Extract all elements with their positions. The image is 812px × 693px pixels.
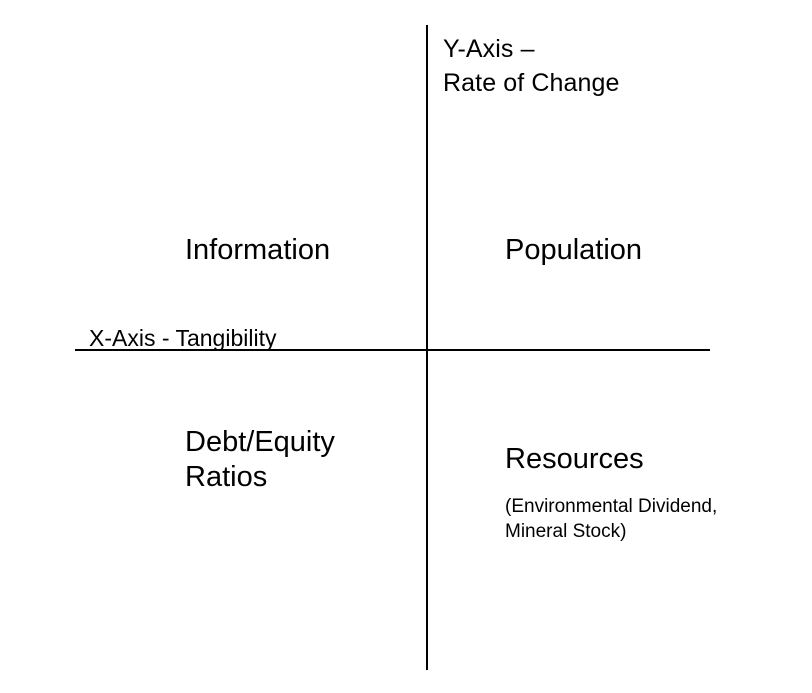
quadrant-label-top-left: Information	[185, 232, 330, 268]
y-axis-line	[426, 25, 428, 670]
y-axis-label: Y-Axis – Rate of Change	[443, 32, 620, 100]
quadrant-label-bottom-left: Debt/Equity Ratios	[185, 425, 335, 495]
quadrant-label-bottom-right-sublabel: (Environmental Dividend, Mineral Stock)	[505, 494, 717, 544]
quadrant-diagram-canvas: Y-Axis – Rate of Change X-Axis - Tangibi…	[0, 0, 812, 693]
quadrant-label-bottom-right: Resources (Environmental Dividend, Miner…	[505, 424, 717, 562]
x-axis-label: X-Axis - Tangibility	[89, 327, 276, 350]
quadrant-label-top-right: Population	[505, 232, 642, 268]
quadrant-label-bottom-right-title: Resources	[505, 442, 717, 476]
